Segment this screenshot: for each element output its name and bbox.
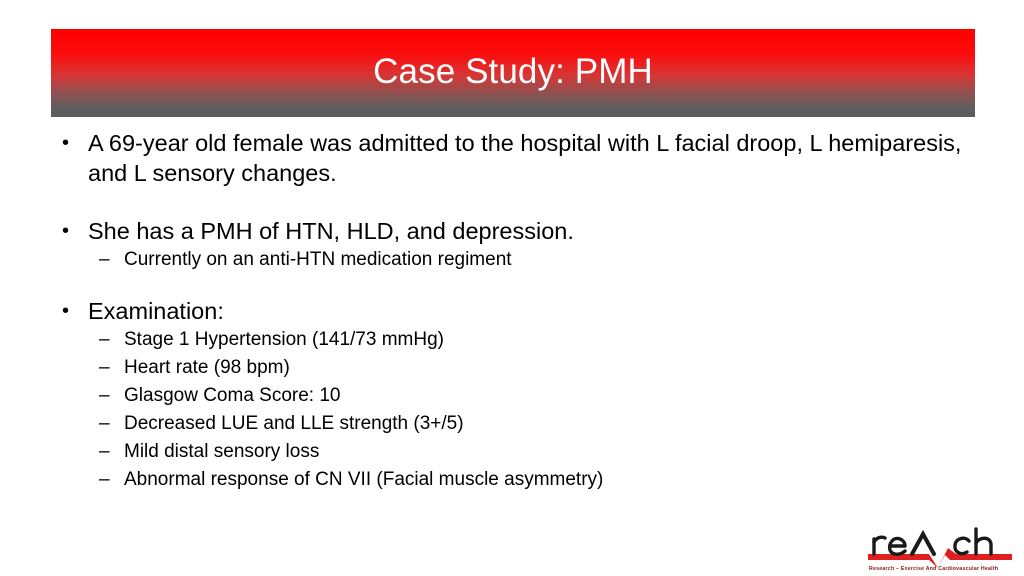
sub-bullet-text: Decreased LUE and LLE strength (3+/5): [124, 413, 464, 434]
dash-marker-icon: –: [99, 354, 110, 382]
page-title: Case Study: PMH: [373, 54, 653, 93]
bullet-text: Examination:: [88, 298, 224, 324]
sub-bullet-item: – Glasgow Coma Score: 10: [58, 382, 978, 410]
sub-bullet-item: – Decreased LUE and LLE strength (3+/5): [58, 410, 978, 438]
bullet-marker-icon: •: [62, 216, 69, 246]
sub-bullet-item: – Mild distal sensory loss: [58, 438, 978, 466]
bullet-item: • A 69-year old female was admitted to t…: [58, 128, 978, 188]
dash-marker-icon: –: [99, 466, 110, 494]
bullet-text: A 69-year old female was admitted to the…: [88, 130, 961, 186]
slide-body: • A 69-year old female was admitted to t…: [58, 128, 978, 494]
sub-bullet-item: – Stage 1 Hypertension (141/73 mmHg): [58, 326, 978, 354]
bullet-marker-icon: •: [62, 128, 69, 158]
bullet-item: • Examination:: [58, 296, 978, 326]
spacer: [58, 188, 978, 216]
dash-marker-icon: –: [99, 438, 110, 466]
reach-logo: Research – Exercise And Cardiovascular H…: [866, 521, 1014, 573]
sub-bullet-text: Mild distal sensory loss: [124, 441, 319, 462]
bullet-marker-icon: •: [62, 296, 69, 326]
sub-bullet-text: Heart rate (98 bpm): [124, 357, 290, 378]
dash-marker-icon: –: [99, 382, 110, 410]
bullet-item: • She has a PMH of HTN, HLD, and depress…: [58, 216, 978, 246]
sub-bullet-text: Currently on an anti-HTN medication regi…: [124, 249, 512, 270]
bullet-text: She has a PMH of HTN, HLD, and depressio…: [88, 218, 574, 244]
sub-bullet-item: – Heart rate (98 bpm): [58, 354, 978, 382]
logo-tagline: Research – Exercise And Cardiovascular H…: [869, 566, 998, 572]
sub-bullet-item: – Abnormal response of CN VII (Facial mu…: [58, 466, 978, 494]
sub-bullet-text: Glasgow Coma Score: 10: [124, 385, 341, 406]
dash-marker-icon: –: [99, 326, 110, 354]
sub-bullet-text: Stage 1 Hypertension (141/73 mmHg): [124, 329, 444, 350]
sub-bullet-text: Abnormal response of CN VII (Facial musc…: [124, 469, 603, 490]
slide-title-banner: Case Study: PMH: [51, 29, 975, 117]
dash-marker-icon: –: [99, 246, 110, 274]
spacer: [58, 274, 978, 296]
dash-marker-icon: –: [99, 410, 110, 438]
sub-bullet-item: – Currently on an anti-HTN medication re…: [58, 246, 978, 274]
